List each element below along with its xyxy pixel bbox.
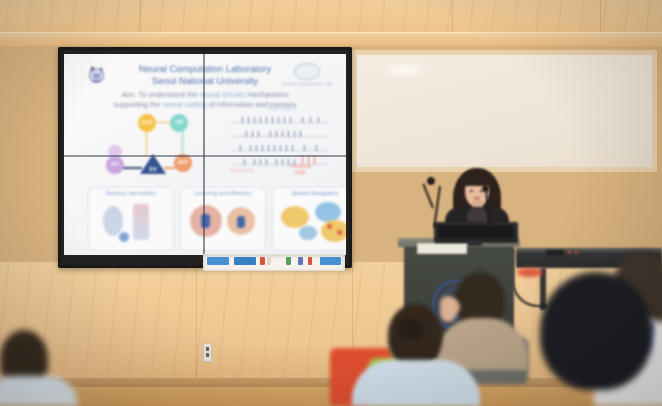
- lecture-hall-photo: Neural Computation Lab Neural Computatio…: [0, 0, 662, 406]
- av-indicator-dot: [575, 251, 578, 254]
- upper-wall-panel: [0, 0, 662, 46]
- podium-note-card: [417, 243, 467, 254]
- audience-member-hair-bun: [398, 318, 424, 340]
- circuit-node-vip: VIP: [170, 114, 188, 132]
- neural-circuit-diagram: CCK VIP PV SST EX: [94, 112, 206, 180]
- microphone-head-icon: [482, 185, 489, 192]
- audience-member-head: [540, 272, 652, 390]
- presentation-slide: Neural Computation Lab Neural Computatio…: [64, 54, 346, 255]
- whiteboard-glare: [385, 60, 433, 80]
- microphone-head-icon: [427, 177, 435, 185]
- audience-member-torso: [352, 360, 480, 406]
- av-indicator-dot: [568, 251, 571, 254]
- raster-label-synchrony: Synchrony: [212, 168, 272, 174]
- slide-title-line1: Neural Computation Laboratory: [64, 64, 346, 76]
- circuit-node-cck: CCK: [138, 114, 156, 132]
- slide-title-line2: Seoul National University: [64, 76, 346, 88]
- raster-label-temporal: Temporal code: [274, 164, 326, 176]
- slide-title: Neural Computation Laboratory Seoul Nati…: [64, 64, 346, 87]
- av-port: [546, 250, 564, 256]
- slide-aim-line1: Aim: To understand the neural circuits m…: [90, 90, 320, 100]
- wall-shelf: [203, 254, 345, 271]
- panel-title: Spatial Navigation: [273, 191, 346, 197]
- wall-outlet: [203, 343, 212, 362]
- panel-title: Sensory perception: [89, 191, 173, 197]
- slide-panel-learning-and-memory: Learning and Memory: [180, 187, 266, 251]
- audience-member-hand: [440, 296, 456, 322]
- podium-monitor[interactable]: [434, 222, 518, 243]
- circuit-node-pv: PV: [106, 156, 124, 174]
- spike-raster-plot: Rate code Synchrony Temporal code: [226, 106, 334, 180]
- monitor-stand: [468, 241, 482, 246]
- panel-title: Learning and Memory: [181, 191, 265, 197]
- microphone-gooseneck: [422, 184, 434, 209]
- slide-panel-sensory-perception: Sensory perception: [88, 187, 174, 251]
- video-wall[interactable]: Neural Computation Lab Neural Computatio…: [58, 47, 352, 268]
- circuit-node-ex: EX: [140, 167, 166, 173]
- slide-panel-spatial-navigation: Spatial Navigation: [272, 187, 346, 251]
- raster-label-rate: Rate code: [226, 106, 334, 112]
